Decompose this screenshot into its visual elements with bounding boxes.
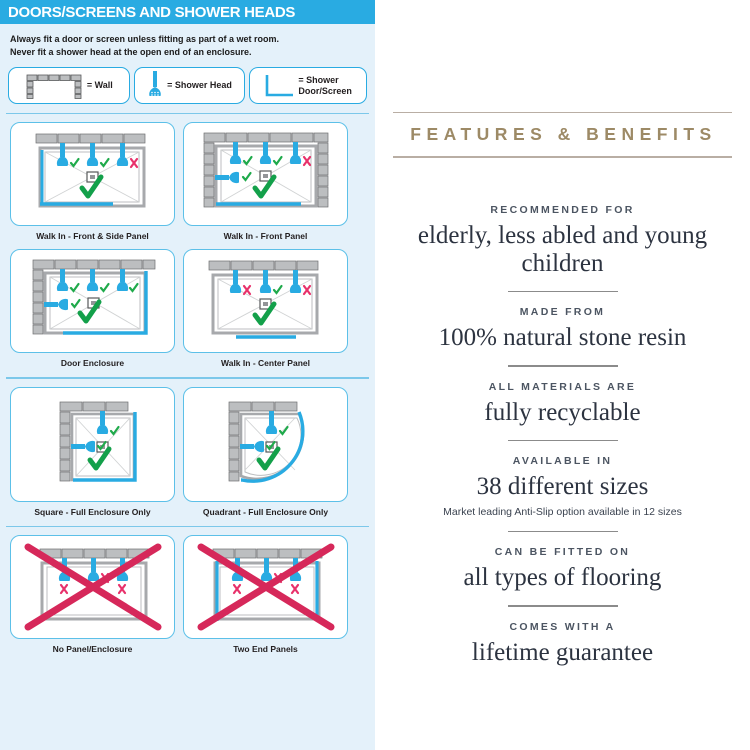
- intro-line-2: Never fit a shower head at the open end …: [10, 46, 365, 59]
- feature-item-can-be-fitted-on: CAN BE FITTED ON all types of flooring: [393, 546, 732, 592]
- feature-value: all types of flooring: [393, 564, 732, 592]
- feature-separator: [508, 440, 618, 441]
- diagram-cell[interactable]: Walk In - Front & Side Panel: [10, 122, 175, 241]
- diagram-caption: Walk In - Front & Side Panel: [10, 231, 175, 241]
- shower-door-screen-icon: [264, 73, 294, 99]
- legend-item-shower-head: = Shower Head: [134, 67, 246, 104]
- legend-item-wall: = Wall: [8, 67, 130, 104]
- diagram-caption: Square - Full Enclosure Only: [10, 507, 175, 517]
- diagram-card-no-panel-enclosure[interactable]: [10, 535, 175, 639]
- diagram-grid-1: Walk In - Front & Side Panel: [0, 114, 375, 368]
- header-rule-bottom: [393, 156, 732, 157]
- diagram-card-square-full-enclosure[interactable]: [10, 387, 175, 502]
- feature-value: lifetime guarantee: [393, 639, 732, 667]
- feature-item-made-from: MADE FROM 100% natural stone resin: [393, 306, 732, 352]
- diagram-cell[interactable]: Walk In - Front Panel: [183, 122, 348, 241]
- feature-separator: [508, 531, 618, 532]
- feature-item-all-materials-are: ALL MATERIALS ARE fully recyclable: [393, 381, 732, 427]
- feature-label: RECOMMENDED FOR: [393, 204, 732, 216]
- tray-layout-diagram: [18, 539, 168, 635]
- shower-head-icon: [147, 71, 163, 101]
- feature-label: CAN BE FITTED ON: [393, 546, 732, 558]
- diagram-cell[interactable]: Square - Full Enclosure Only: [10, 387, 175, 517]
- panel-title: DOORS/SCREENS AND SHOWER HEADS: [8, 4, 295, 21]
- page-root: DOORS/SCREENS AND SHOWER HEADS Always fi…: [0, 0, 750, 750]
- legend-label-wall: = Wall: [87, 80, 113, 90]
- doors-screens-panel: DOORS/SCREENS AND SHOWER HEADS Always fi…: [0, 0, 375, 750]
- feature-label: MADE FROM: [393, 306, 732, 318]
- tray-layout-diagram: [191, 253, 341, 349]
- feature-value: elderly, less abled and young children: [393, 222, 732, 278]
- wall-icon: [25, 73, 83, 99]
- diagram-card-quadrant-full-enclosure[interactable]: [183, 387, 348, 502]
- diagram-caption: Quadrant - Full Enclosure Only: [183, 507, 348, 517]
- tray-layout-diagram: [191, 126, 341, 222]
- features-title: FEATURES & BENEFITS: [393, 113, 732, 156]
- diagram-caption: Two End Panels: [183, 644, 348, 654]
- panel-header: DOORS/SCREENS AND SHOWER HEADS: [0, 0, 375, 24]
- feature-value: 38 different sizes: [393, 473, 732, 501]
- diagram-cell[interactable]: Door Enclosure: [10, 249, 175, 368]
- feature-separator: [508, 365, 618, 366]
- legend-item-shower-door: = Shower Door/Screen: [249, 67, 367, 104]
- feature-label: AVAILABLE IN: [393, 455, 732, 467]
- diagram-card-walk-in-front[interactable]: [183, 122, 348, 226]
- feature-value: fully recyclable: [393, 399, 732, 427]
- feature-value: 100% natural stone resin: [393, 324, 732, 352]
- tray-layout-diagram: [18, 253, 168, 349]
- feature-separator: [508, 291, 618, 292]
- feature-label: COMES WITH A: [393, 621, 732, 633]
- tray-layout-diagram: [191, 539, 341, 635]
- feature-label: ALL MATERIALS ARE: [393, 381, 732, 393]
- diagram-card-walk-in-front-side[interactable]: [10, 122, 175, 226]
- features-header: FEATURES & BENEFITS: [393, 112, 732, 158]
- feature-item-comes-with-a: COMES WITH A lifetime guarantee: [393, 621, 732, 667]
- tray-layout-diagram: [18, 126, 168, 222]
- legend-row: = Wall = Shower Head = Shower Door/Sc: [0, 65, 375, 104]
- feature-subtext: Market leading Anti-Slip option availabl…: [393, 506, 732, 518]
- diagram-grid-2: Square - Full Enclosure Only: [0, 379, 375, 517]
- tray-layout-diagram: [18, 392, 168, 496]
- diagram-caption: Walk In - Center Panel: [183, 358, 348, 368]
- feature-item-available-in: AVAILABLE IN 38 different sizes Market l…: [393, 455, 732, 518]
- diagram-caption: No Panel/Enclosure: [10, 644, 175, 654]
- diagram-card-door-enclosure[interactable]: [10, 249, 175, 353]
- diagram-grid-3: No Panel/Enclosure: [0, 527, 375, 654]
- intro-text: Always fit a door or screen unless fitti…: [0, 24, 375, 65]
- diagram-caption: Walk In - Front Panel: [183, 231, 348, 241]
- diagram-cell[interactable]: Two End Panels: [183, 535, 348, 654]
- diagram-caption: Door Enclosure: [10, 358, 175, 368]
- tray-layout-diagram: [191, 392, 341, 496]
- legend-label-shower-head: = Shower Head: [167, 80, 232, 90]
- features-benefits-panel: FEATURES & BENEFITS RECOMMENDED FOR elde…: [375, 0, 750, 750]
- diagram-card-two-end-panels[interactable]: [183, 535, 348, 639]
- diagram-cell[interactable]: Quadrant - Full Enclosure Only: [183, 387, 348, 517]
- legend-label-shower-door: = Shower Door/Screen: [298, 75, 352, 96]
- diagram-cell[interactable]: No Panel/Enclosure: [10, 535, 175, 654]
- intro-line-1: Always fit a door or screen unless fitti…: [10, 33, 365, 46]
- diagram-cell[interactable]: Walk In - Center Panel: [183, 249, 348, 368]
- feature-item-recommended-for: RECOMMENDED FOR elderly, less abled and …: [393, 204, 732, 278]
- diagram-card-walk-in-center[interactable]: [183, 249, 348, 353]
- feature-separator: [508, 605, 618, 606]
